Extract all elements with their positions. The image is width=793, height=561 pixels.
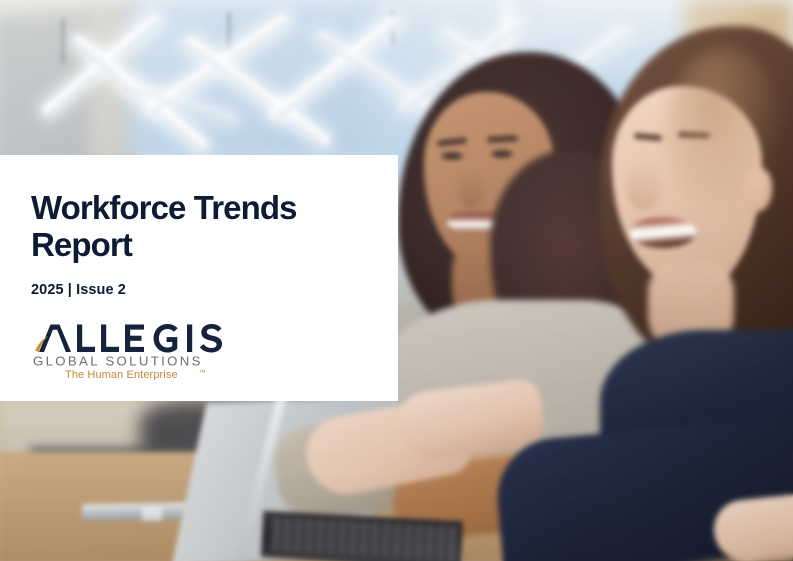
allegis-logo-svg: GLOBAL SOLUTIONS The Human Enterprise ™ (31, 322, 243, 380)
woman-left-eye-left (441, 152, 463, 160)
title-card: Workforce TrendsReport 2025 | Issue 2 (0, 155, 398, 401)
page-title-line-2: Report (31, 226, 132, 263)
tablet-clip (142, 508, 162, 521)
woman-left-eye-right (491, 150, 513, 158)
brand-tagline: The Human Enterprise (65, 369, 178, 380)
allegis-wordmark (39, 324, 222, 353)
pendant-stem-1 (62, 18, 64, 64)
woman-right-nose (627, 162, 661, 210)
woman-right-eye-left (637, 150, 660, 159)
report-cover: Workforce TrendsReport 2025 | Issue 2 (0, 0, 793, 561)
title-card-content: Workforce TrendsReport 2025 | Issue 2 (0, 155, 398, 380)
page-title: Workforce TrendsReport (31, 189, 331, 263)
pendant-stem-2 (228, 12, 230, 50)
woman-left-nose (458, 170, 484, 208)
glass-partition-a (130, 0, 380, 160)
woman-right-smile (630, 218, 696, 248)
brand-trademark-symbol: ™ (199, 369, 206, 376)
allegis-global-solutions-logo: GLOBAL SOLUTIONS The Human Enterprise ™ (31, 322, 243, 380)
edition-label: 2025 | Issue 2 (31, 282, 368, 298)
page-title-line-1: Workforce Trends (31, 189, 297, 226)
woman-right-hair-highlight (665, 48, 785, 218)
brand-descriptor: GLOBAL SOLUTIONS (33, 354, 203, 369)
